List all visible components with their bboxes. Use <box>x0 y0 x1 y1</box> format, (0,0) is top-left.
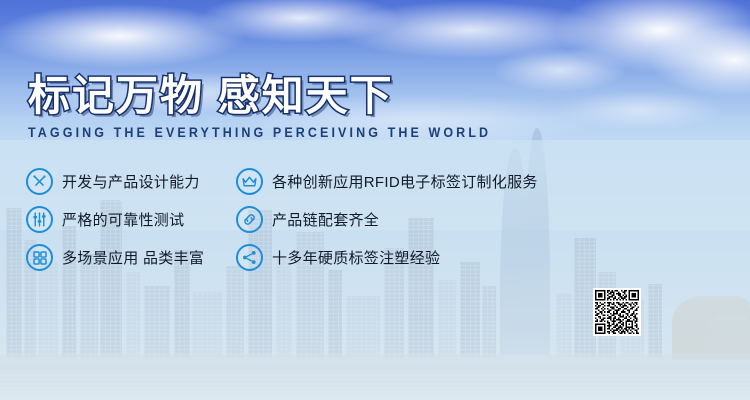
feature-list: 开发与产品设计能力 各种创新应用RFID电子标签订制化服务 <box>26 168 726 282</box>
feature-item-multi-scenario[interactable]: 多场景应用 品类丰富 <box>26 244 204 271</box>
headline-block: 标记万物 感知天下 TAGGING THE EVERYTHING PERCEIV… <box>28 74 491 139</box>
feature-row: 开发与产品设计能力 各种创新应用RFID电子标签订制化服务 <box>26 168 726 206</box>
share-nodes-icon <box>236 244 263 271</box>
chain-link-icon <box>236 206 263 233</box>
feature-label: 各种创新应用RFID电子标签订制化服务 <box>272 171 538 192</box>
grid-squares-icon <box>26 244 53 271</box>
crown-icon <box>236 168 263 195</box>
crossed-tools-icon <box>26 168 53 195</box>
feature-item-injection-molding-experience[interactable]: 十多年硬质标签注塑经验 <box>236 244 440 271</box>
qr-code[interactable] <box>593 288 641 336</box>
feature-item-product-chain[interactable]: 产品链配套齐全 <box>236 206 379 233</box>
feature-label: 十多年硬质标签注塑经验 <box>272 247 440 268</box>
feature-label: 产品链配套齐全 <box>272 209 379 230</box>
feature-label: 严格的可靠性测试 <box>62 209 184 230</box>
qr-code-image <box>595 290 639 334</box>
page-title: 标记万物 感知天下 <box>28 74 491 118</box>
feature-label: 多场景应用 品类丰富 <box>62 247 204 268</box>
feature-item-development-design[interactable]: 开发与产品设计能力 <box>26 168 200 195</box>
sliders-icon <box>26 206 53 233</box>
feature-row: 多场景应用 品类丰富 十多年硬质标签注塑经验 <box>26 244 726 282</box>
promo-banner: 标记万物 感知天下 TAGGING THE EVERYTHING PERCEIV… <box>0 0 750 400</box>
feature-label: 开发与产品设计能力 <box>62 171 200 192</box>
feature-item-rfid-customization[interactable]: 各种创新应用RFID电子标签订制化服务 <box>236 168 538 195</box>
water-sheen <box>0 370 750 400</box>
page-subtitle: TAGGING THE EVERYTHING PERCEIVING THE WO… <box>28 125 491 140</box>
feature-item-reliability-testing[interactable]: 严格的可靠性测试 <box>26 206 184 233</box>
feature-row: 严格的可靠性测试 产品链配套齐全 <box>26 206 726 244</box>
